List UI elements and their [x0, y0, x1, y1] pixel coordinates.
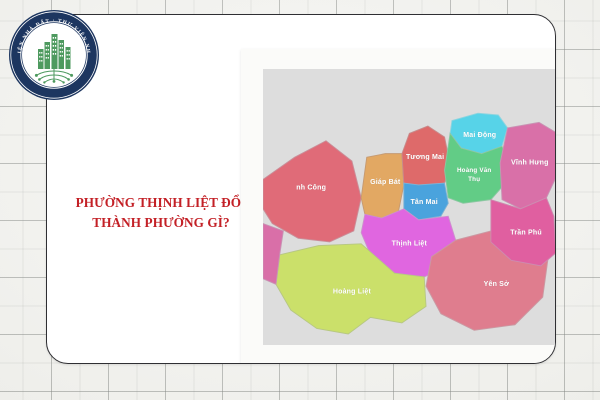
- map-label-hoang-van-thu-2: Thụ: [468, 176, 480, 183]
- logo-svg: THƯ VIỆN NHÀ ĐẤT · THƯ VIỆN NHÀ ĐẤT www.…: [8, 9, 100, 101]
- map-label-hoang-liet: Hoàng Liệt: [333, 288, 372, 295]
- headline-line-2: THÀNH PHƯỜNG GÌ?: [55, 213, 267, 233]
- map-label-yen-so: Yên Sở: [484, 281, 510, 288]
- map-label-vinh-hung: Vĩnh Hưng: [511, 160, 549, 167]
- content-card: PHƯỜNG THỊNH LIỆT ĐỔI THÀNH PHƯỜNG GÌ?: [46, 14, 556, 364]
- map-label-tuong-mai: Tương Mai: [406, 154, 444, 161]
- map-label-thinh-liet: Thịnh Liệt: [392, 241, 428, 248]
- screenshot-root: PHƯỜNG THỊNH LIỆT ĐỔI THÀNH PHƯỜNG GÌ?: [0, 0, 600, 400]
- page-title: PHƯỜNG THỊNH LIỆT ĐỔI THÀNH PHƯỜNG GÌ?: [55, 193, 267, 234]
- map-label-mai-dong: Mai Động: [463, 132, 496, 139]
- map-label-dinh-cong: nh Công: [296, 185, 326, 192]
- map-photo-frame: nh Công Giáp Bát Tương Mai Tân Mai Mai Đ…: [241, 49, 556, 364]
- map-label-tran-phu: Trần Phú: [510, 228, 542, 237]
- map-label-hoang-van-thu: Hoàng Văn: [457, 167, 492, 174]
- logo-badge: THƯ VIỆN NHÀ ĐẤT · THƯ VIỆN NHÀ ĐẤT www.…: [8, 9, 100, 101]
- map-label-tan-mai: Tân Mai: [410, 199, 437, 206]
- ward-map-svg: nh Công Giáp Bát Tương Mai Tân Mai Mai Đ…: [263, 69, 556, 345]
- headline-line-1: PHƯỜNG THỊNH LIỆT ĐỔI: [76, 195, 247, 210]
- map-canvas: nh Công Giáp Bát Tương Mai Tân Mai Mai Đ…: [263, 69, 556, 345]
- map-label-giap-bat: Giáp Bát: [370, 179, 401, 186]
